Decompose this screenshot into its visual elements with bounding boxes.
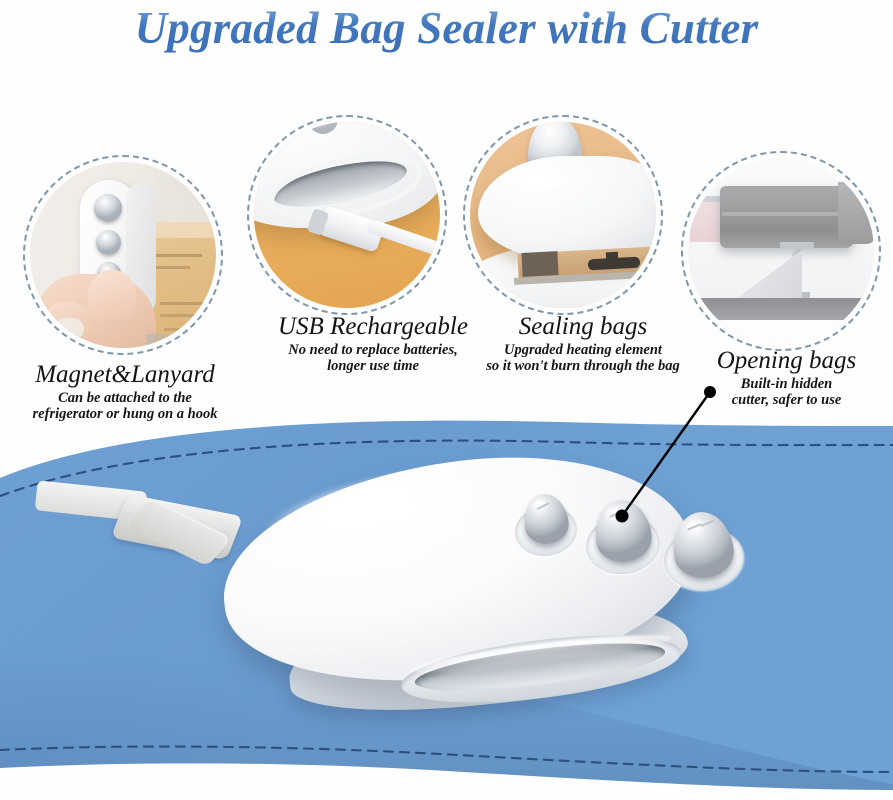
feature-photo-opening-bags	[688, 158, 874, 344]
caption-subline-1: Can be attached to the	[0, 390, 250, 406]
feature-photo-usb-rechargeable	[254, 122, 440, 308]
photo-3	[470, 122, 656, 308]
product-infographic: Upgraded Bag Sealer with Cutter	[0, 0, 893, 800]
feature-photo-sealing-bags	[470, 122, 656, 308]
page-title: Upgraded Bag Sealer with Cutter	[0, 2, 893, 54]
caption-heading: Sealing bags	[453, 314, 713, 340]
photo-1	[30, 162, 216, 348]
hero-scene	[0, 418, 893, 800]
caption-sealing-bags: Sealing bags Upgraded heating element so…	[453, 314, 713, 375]
photo-2	[254, 122, 440, 308]
caption-heading: Opening bags	[680, 348, 893, 374]
caption-subline-2: cutter, safer to use	[680, 392, 893, 408]
photo-4	[688, 158, 874, 344]
caption-subline-1: Upgraded heating element	[453, 342, 713, 358]
caption-subline-1: Built-in hidden	[680, 376, 893, 392]
caption-magnet-lanyard: Magnet&Lanyard Can be attached to the re…	[0, 362, 250, 423]
feature-photo-magnet-lanyard	[30, 162, 216, 348]
caption-subline-2: so it won't burn through the bag	[453, 358, 713, 374]
caption-opening-bags: Opening bags Built-in hidden cutter, saf…	[680, 348, 893, 409]
caption-heading: Magnet&Lanyard	[0, 362, 250, 388]
